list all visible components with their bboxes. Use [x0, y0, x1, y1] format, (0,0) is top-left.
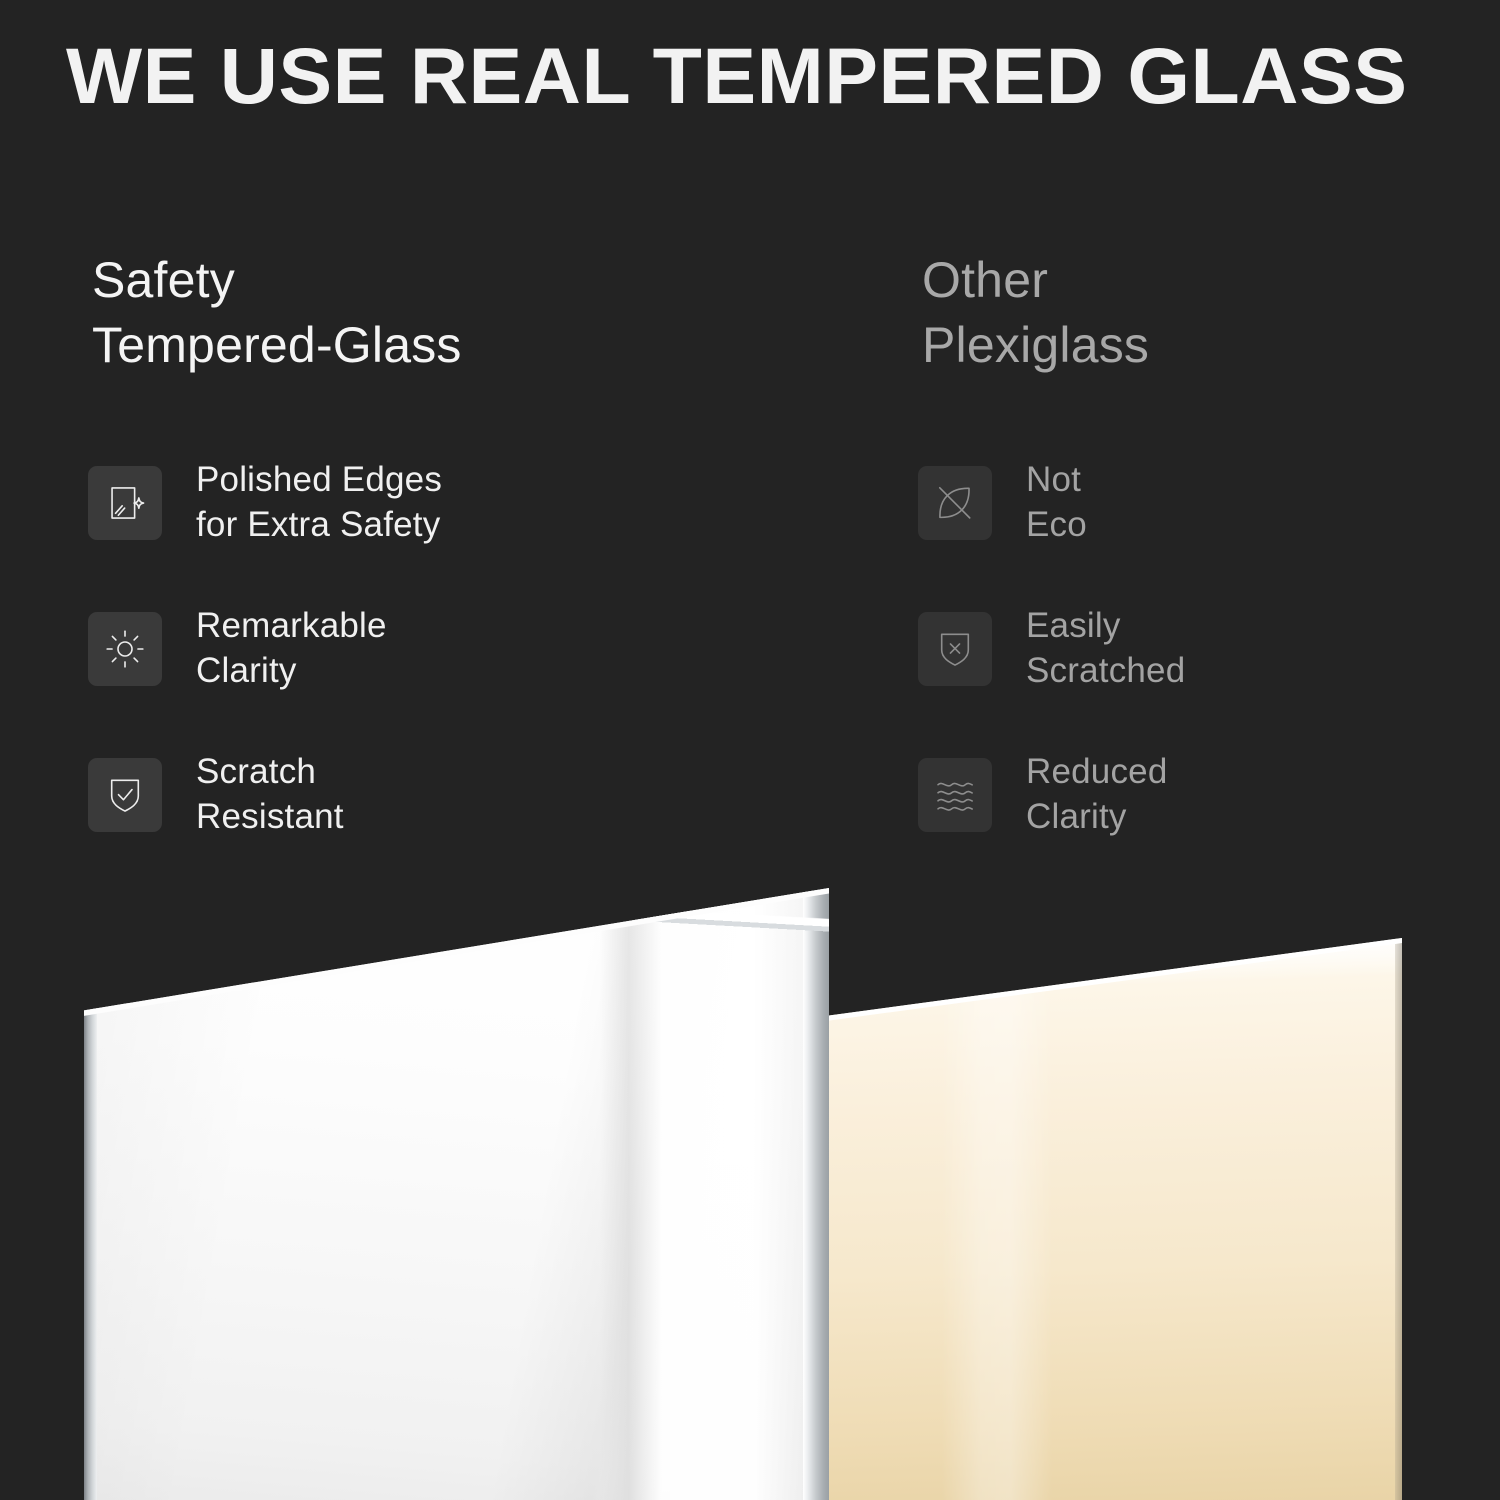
plexiglass-panel — [812, 938, 1402, 1500]
comparison-column-safety-tempered-glass: Safety Tempered-Glass Polished Edges for… — [88, 248, 868, 844]
product-infographic: WE USE REAL TEMPERED GLASS Safety Temper… — [0, 0, 1500, 1500]
feature-label: Scratch Resistant — [196, 750, 344, 840]
sun-brightness-icon — [88, 612, 162, 686]
glass-left-polished-edge — [84, 888, 97, 1500]
product-photo-area — [0, 860, 1500, 1500]
polished-edge-sparkle-icon — [88, 466, 162, 540]
leaf-crossed-out-icon — [918, 466, 992, 540]
tempered-glass-panel — [84, 888, 829, 1500]
feature-item: Easily Scratched — [918, 600, 1478, 698]
shield-check-icon — [88, 758, 162, 832]
feature-label: Remarkable Clarity — [196, 604, 387, 694]
comparison-column-other-plexiglass: Other Plexiglass Not Eco — [918, 248, 1478, 844]
column-title-safety-tempered-glass: Safety Tempered-Glass — [92, 248, 868, 378]
glass-right-polished-edge — [803, 888, 829, 1500]
feature-list-safety-tempered-glass: Polished Edges for Extra Safety — [88, 454, 868, 844]
feature-list-other-plexiglass: Not Eco Easily Scratched — [918, 454, 1478, 844]
feature-label: Polished Edges for Extra Safety — [196, 458, 442, 548]
plexi-top-highlight — [812, 938, 1402, 1500]
shield-x-icon — [918, 612, 992, 686]
feature-label: Reduced Clarity — [1026, 750, 1168, 840]
plexi-right-edge — [1395, 938, 1402, 1500]
feature-item: Polished Edges for Extra Safety — [88, 454, 868, 552]
page-title: WE USE REAL TEMPERED GLASS — [66, 36, 1494, 115]
feature-item: Reduced Clarity — [918, 746, 1478, 844]
feature-item: Remarkable Clarity — [88, 600, 868, 698]
feature-item: Scratch Resistant — [88, 746, 868, 844]
wavy-lines-blur-icon — [918, 758, 992, 832]
feature-label: Easily Scratched — [1026, 604, 1185, 694]
feature-item: Not Eco — [918, 454, 1478, 552]
glass-reflection — [600, 888, 805, 1500]
column-title-other-plexiglass: Other Plexiglass — [922, 248, 1478, 378]
feature-label: Not Eco — [1026, 458, 1087, 548]
